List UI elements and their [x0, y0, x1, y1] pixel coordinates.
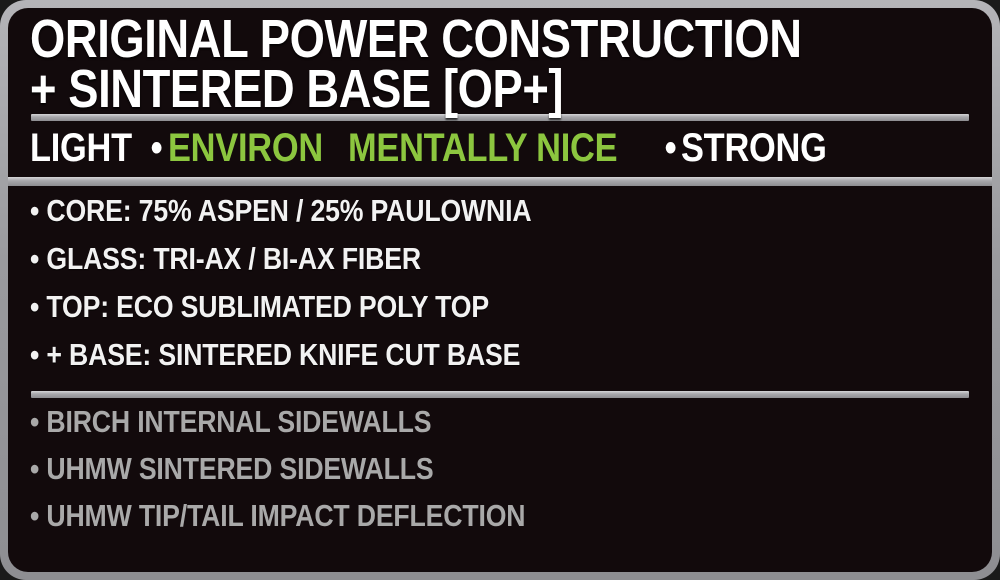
tagline-word-strong: STRONG [681, 128, 827, 168]
list-item: • TOP: ECO SUBLIMATED POLY TOP [30, 291, 992, 322]
list-item: • + BASE: SINTERED KNIFE CUT BASE [30, 339, 992, 370]
spec-secondary-1: • UHMW SINTERED SIDEWALLS [30, 453, 433, 484]
list-item: • GLASS: TRI-AX / BI-AX FIBER [30, 243, 992, 274]
product-title-line-1: ORIGINAL POWER CONSTRUCTION [30, 14, 838, 64]
title-block: ORIGINAL POWER CONSTRUCTION + SINTERED B… [8, 8, 992, 114]
spec-secondary-0: • BIRCH INTERNAL SIDEWALLS [30, 406, 431, 437]
spec-panel: ORIGINAL POWER CONSTRUCTION + SINTERED B… [8, 8, 992, 572]
tagline-word-light: LIGHT [30, 128, 132, 168]
spec-primary-0: • CORE: 75% ASPEN / 25% PAULOWNIA [30, 195, 531, 226]
primary-spec-list: • CORE: 75% ASPEN / 25% PAULOWNIA • GLAS… [8, 186, 992, 391]
spec-primary-1: • GLASS: TRI-AX / BI-AX FIBER [30, 243, 421, 274]
spec-primary-3: • + BASE: SINTERED KNIFE CUT BASE [30, 339, 520, 370]
tagline-green-small: ENVIRON [168, 128, 323, 168]
tagline: LIGHT•ENVIRONMENTALLY NICE•STRONG [8, 121, 992, 177]
list-item: • UHMW TIP/TAIL IMPACT DEFLECTION [30, 500, 992, 531]
list-item: • BIRCH INTERNAL SIDEWALLS [30, 406, 992, 437]
tagline-separator-1: • [148, 128, 165, 168]
product-title-line-2: + SINTERED BASE [OP+] [30, 64, 838, 114]
tagline-separator-2: • [662, 128, 679, 168]
list-item: • CORE: 75% ASPEN / 25% PAULOWNIA [30, 195, 992, 226]
list-item: • UHMW SINTERED SIDEWALLS [30, 453, 992, 484]
divider-under-primary-list [31, 391, 969, 398]
divider-under-tagline [8, 177, 992, 186]
spec-card: ORIGINAL POWER CONSTRUCTION + SINTERED B… [0, 0, 1000, 580]
spec-primary-2: • TOP: ECO SUBLIMATED POLY TOP [30, 291, 489, 322]
tagline-green-large: MENTALLY NICE [348, 128, 617, 168]
spec-secondary-2: • UHMW TIP/TAIL IMPACT DEFLECTION [30, 500, 525, 531]
secondary-spec-list: • BIRCH INTERNAL SIDEWALLS • UHMW SINTER… [8, 398, 992, 535]
